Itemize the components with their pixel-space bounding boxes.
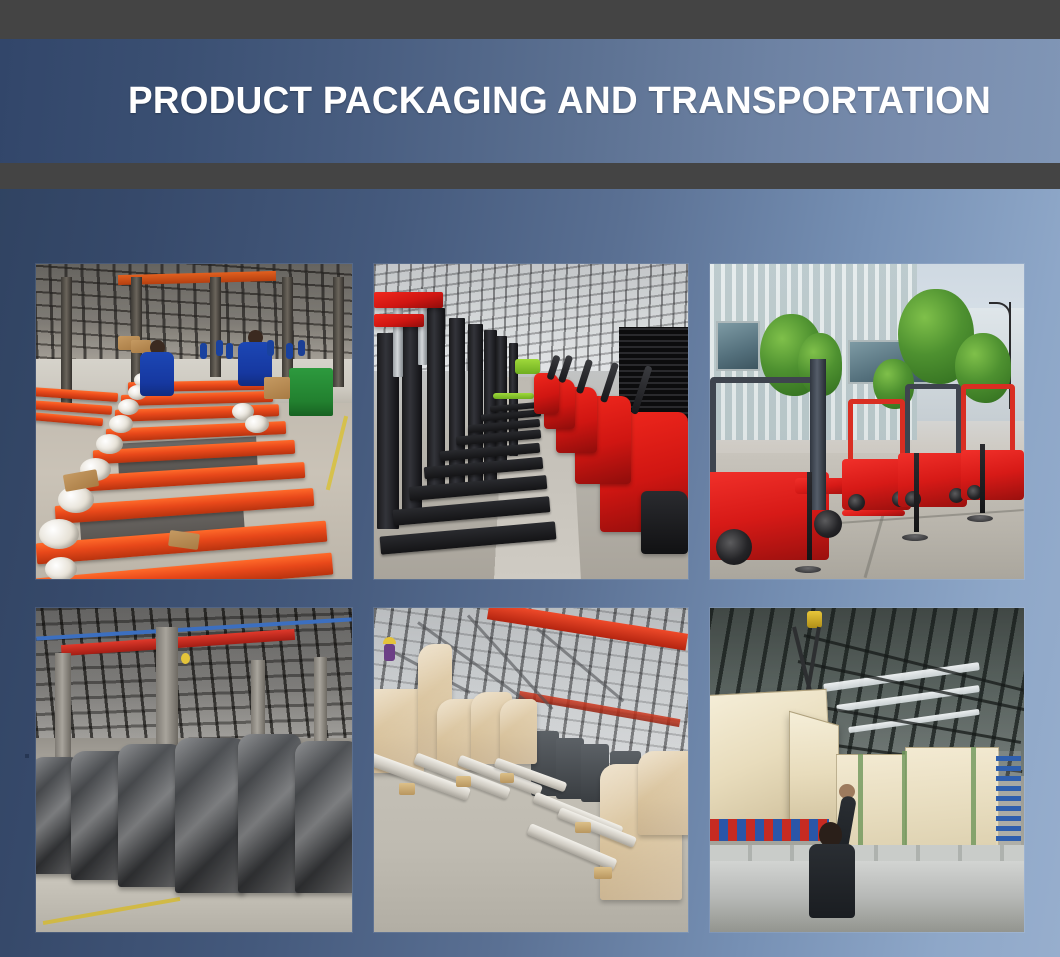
gallery-photo-forklift-yard[interactable] (710, 264, 1024, 579)
photo-5-image (374, 608, 688, 932)
photo-1-image (36, 264, 352, 579)
gallery-photo-assembly-line[interactable] (36, 264, 352, 579)
banner: PRODUCT PACKAGING AND TRANSPORTATION (0, 39, 1060, 163)
gallery-photo-kraft-packed-pallets[interactable] (374, 608, 688, 932)
gallery-photo-crate-loading[interactable] (710, 608, 1024, 932)
photo-gallery (36, 264, 1024, 932)
gallery-photo-stacker-aisle[interactable] (374, 264, 688, 579)
edge-artifact (25, 754, 29, 758)
page-title: PRODUCT PACKAGING AND TRANSPORTATION (128, 80, 991, 123)
top-dark-band (0, 0, 1060, 39)
photo-3-image (710, 264, 1024, 579)
photo-2-image (374, 264, 688, 579)
gallery-row (36, 264, 1024, 579)
gallery-photo-film-wrapped-units[interactable] (36, 608, 352, 932)
photo-6-image (710, 608, 1024, 932)
bottom-dark-band (0, 163, 1060, 189)
gallery-row (36, 608, 1024, 932)
photo-4-image (36, 608, 352, 932)
slide-root: PRODUCT PACKAGING AND TRANSPORTATION (0, 0, 1060, 957)
